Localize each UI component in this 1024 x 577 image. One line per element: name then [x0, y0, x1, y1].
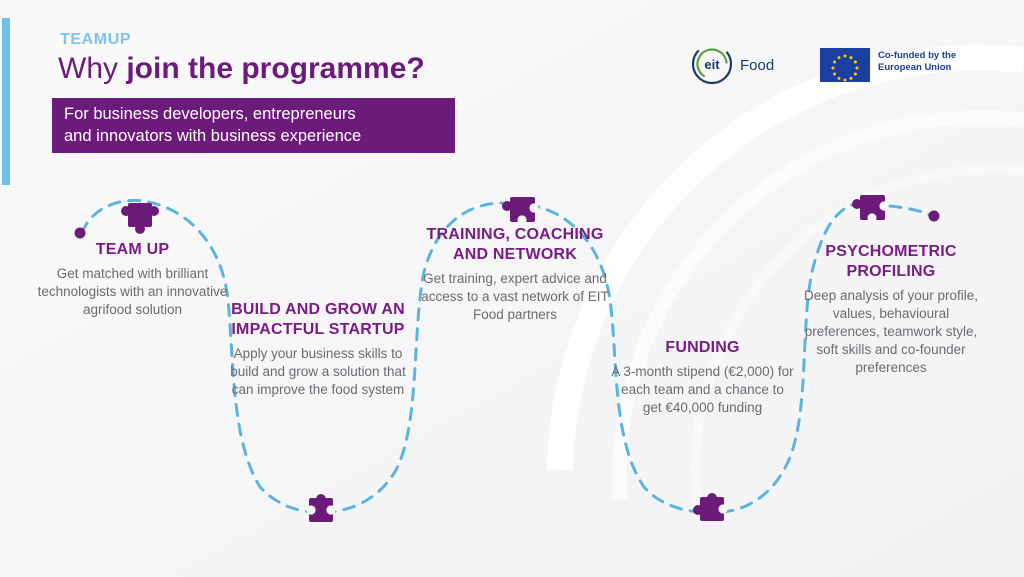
left-accent-bar	[2, 18, 10, 185]
eu-cofunding-logo: Co-funded by the European Union	[820, 48, 972, 82]
step-body: Apply your business skills to build and …	[218, 345, 418, 399]
flow-start-dot	[75, 228, 86, 239]
slide-canvas: TEAMUP Why join the programme? For busin…	[0, 0, 1024, 577]
eu-flag-icon	[820, 48, 870, 82]
flow-end-dot	[929, 211, 940, 222]
step-node-funding	[688, 488, 734, 535]
step-psychometric-profiling: PSYCHOMETRIC PROFILING Deep analysis of …	[800, 242, 982, 377]
step-node-team-up	[118, 199, 162, 244]
audience-banner-text: For business developers, entrepreneurs a…	[64, 103, 449, 147]
eit-food-wordmark: Food	[740, 57, 774, 74]
eu-flag-stars	[820, 48, 870, 82]
eit-food-logo: eit Food	[690, 43, 790, 85]
kicker-label: TEAMUP	[60, 31, 131, 49]
step-body: Get training, expert advice and access t…	[418, 270, 612, 324]
step-title: BUILD AND GROW AN IMPACTFUL STARTUP	[218, 300, 418, 340]
page-title: Why join the programme?	[58, 52, 425, 86]
step-training-coaching-network: TRAINING, COACHING AND NETWORK Get train…	[418, 225, 612, 324]
step-title: PSYCHOMETRIC PROFILING	[800, 242, 982, 282]
puzzle-piece-icon	[688, 488, 734, 530]
step-body: A 3-month stipend (€2,000) for each team…	[610, 363, 795, 417]
step-node-build-and-grow	[298, 489, 344, 536]
eu-caption-line-1: Co-funded by the	[878, 50, 974, 62]
page-title-light: Why	[58, 52, 126, 85]
eu-cofunding-caption: Co-funded by the European Union	[878, 50, 974, 74]
puzzle-piece-icon	[848, 190, 894, 230]
step-body: Get matched with brilliant technologists…	[20, 265, 245, 319]
puzzle-piece-icon	[298, 489, 344, 531]
puzzle-piece-icon	[118, 199, 162, 239]
page-title-bold: join the programme?	[126, 52, 424, 85]
flow-segment-5	[890, 206, 932, 216]
eit-food-logo-svg: eit Food	[690, 43, 790, 85]
audience-banner-line-2: and innovators with business experience	[64, 125, 449, 147]
step-body: Deep analysis of your profile, values, b…	[800, 287, 982, 377]
step-funding: FUNDING A 3-month stipend (€2,000) for e…	[610, 338, 795, 417]
eu-caption-line-2: European Union	[878, 62, 974, 74]
eit-mark-text: eit	[704, 57, 720, 72]
step-title: FUNDING	[610, 338, 795, 358]
step-node-psychometric	[848, 190, 894, 235]
step-build-and-grow: BUILD AND GROW AN IMPACTFUL STARTUP Appl…	[218, 300, 418, 399]
audience-banner-line-1: For business developers, entrepreneurs	[64, 103, 449, 125]
puzzle-piece-icon	[498, 192, 544, 232]
step-team-up: TEAM UP Get matched with brilliant techn…	[20, 240, 245, 319]
audience-banner: For business developers, entrepreneurs a…	[52, 98, 455, 153]
step-node-training	[498, 192, 544, 237]
